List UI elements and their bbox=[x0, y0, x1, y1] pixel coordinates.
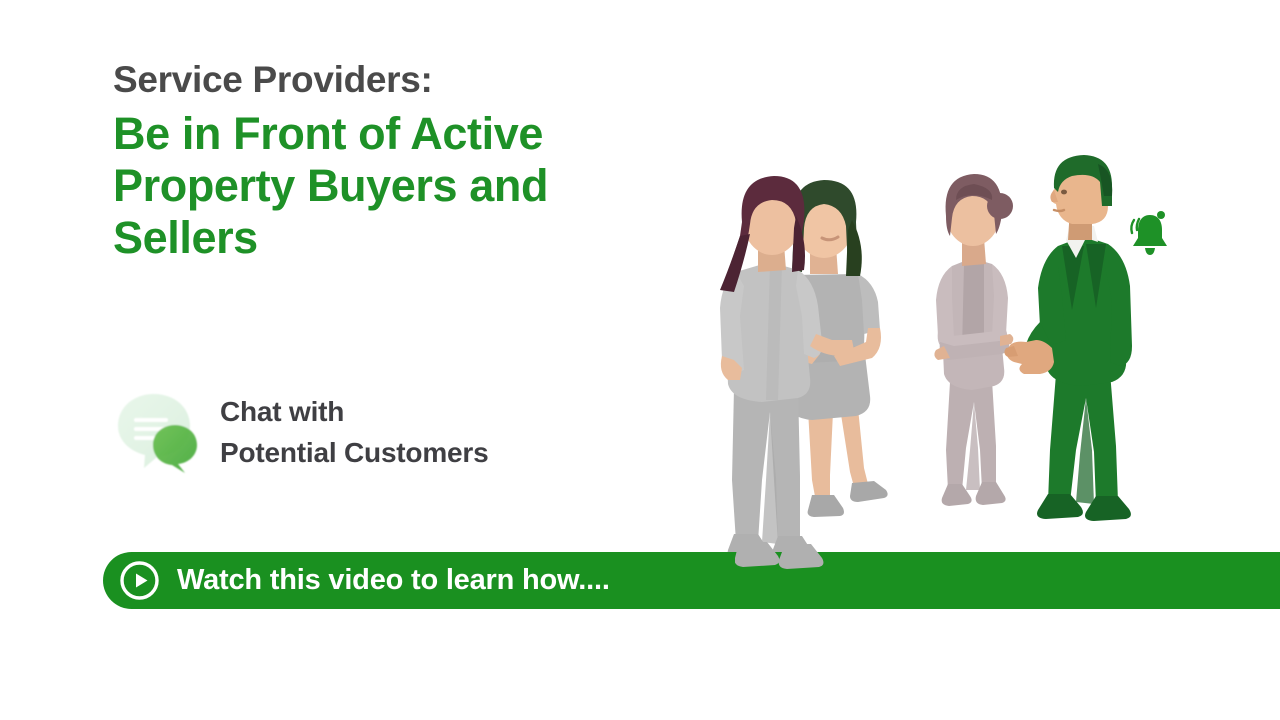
chat-feature-label: Chat with Potential Customers bbox=[220, 392, 488, 473]
copy-block: Service Providers: Be in Front of Active… bbox=[113, 58, 713, 264]
watch-video-banner[interactable]: Watch this video to learn how.... bbox=[103, 552, 1280, 609]
chat-bubbles-icon bbox=[110, 388, 202, 478]
eyebrow-text: Service Providers: bbox=[113, 58, 713, 102]
play-circle-icon[interactable] bbox=[120, 561, 159, 600]
headline-text: Be in Front of Active Property Buyers an… bbox=[113, 108, 693, 265]
promo-slide: Service Providers: Be in Front of Active… bbox=[0, 0, 1280, 720]
chat-feature-row: Chat with Potential Customers bbox=[110, 388, 488, 478]
watch-video-label: Watch this video to learn how.... bbox=[177, 564, 610, 597]
notification-bell-icon bbox=[1126, 208, 1174, 260]
